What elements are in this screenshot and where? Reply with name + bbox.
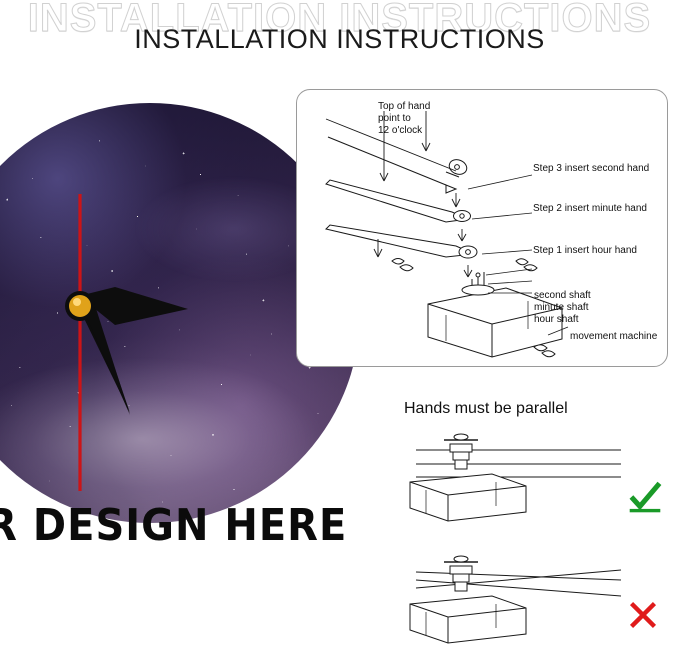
step-1-label: Step 1 insert hour hand [533, 245, 637, 257]
step-2-label: Step 2 insert minute hand [533, 203, 647, 215]
second-shaft-label: second shaft [534, 290, 591, 302]
hour-hand-drawing [326, 225, 477, 258]
cross-mark-icon [628, 600, 658, 630]
instruction-sheet: INSTALLATION INSTRUCTIONS INSTALLATION I… [0, 0, 679, 667]
page-title: INSTALLATION INSTRUCTIONS [0, 24, 679, 55]
top-note-line-1: Top of hand [378, 101, 430, 113]
minute-shaft-label: minute shaft [534, 302, 588, 314]
incorrect-assembly-drawing [410, 556, 621, 643]
clock-overlay-text: UR DESIGN HERE [0, 501, 360, 551]
hour-shaft-label: hour shaft [534, 314, 578, 326]
parallel-section-title: Hands must be parallel [404, 400, 568, 418]
top-note-line-3: 12 o'clock [378, 125, 422, 137]
movement-machine-label: movement machine [570, 331, 657, 343]
check-mark-icon [628, 480, 662, 514]
correct-assembly-drawing [410, 434, 621, 521]
hand-cap [69, 295, 91, 317]
top-note-line-2: point to [378, 113, 411, 125]
step-3-label: Step 3 insert second hand [533, 163, 649, 175]
